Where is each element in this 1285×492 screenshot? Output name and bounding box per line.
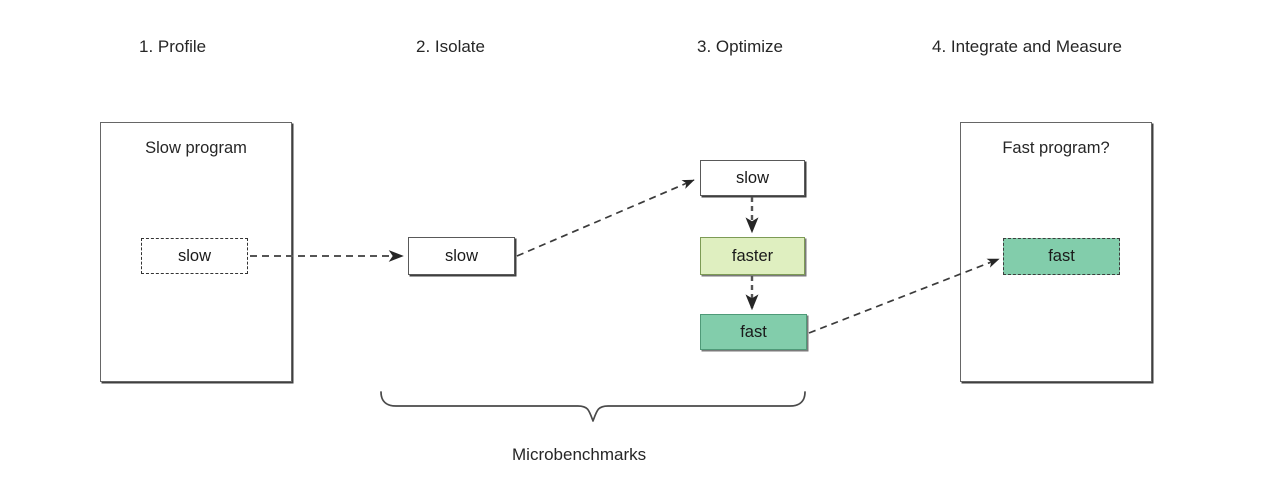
node-faster-benchmark: faster bbox=[700, 237, 805, 275]
step-heading-isolate: 2. Isolate bbox=[416, 38, 485, 55]
node-fast-integrated: fast bbox=[1003, 238, 1120, 275]
step-heading-optimize: 3. Optimize bbox=[697, 38, 783, 55]
node-faster-benchmark-label: faster bbox=[732, 248, 773, 265]
node-fast-benchmark: fast bbox=[700, 314, 807, 350]
node-fast-benchmark-label: fast bbox=[740, 324, 767, 341]
microbenchmarks-label: Microbenchmarks bbox=[512, 445, 646, 464]
diagram-canvas: 1. Profile 2. Isolate 3. Optimize 4. Int… bbox=[0, 0, 1285, 492]
step-heading-profile: 1. Profile bbox=[139, 38, 206, 55]
slow-program-title: Slow program bbox=[101, 140, 291, 157]
node-slow-benchmark-label: slow bbox=[736, 170, 769, 187]
node-slow-isolated-label: slow bbox=[445, 248, 478, 265]
node-slow-hotspot-label: slow bbox=[178, 248, 211, 265]
microbenchmarks-label-wrap: Microbenchmarks bbox=[0, 446, 1285, 463]
step-heading-integrate-and-measure: 4. Integrate and Measure bbox=[932, 38, 1122, 55]
node-slow-benchmark: slow bbox=[700, 160, 805, 196]
node-fast-integrated-label: fast bbox=[1048, 248, 1075, 265]
node-slow-hotspot: slow bbox=[141, 238, 248, 274]
fast-program-title: Fast program? bbox=[961, 140, 1151, 157]
microbenchmarks-brace bbox=[381, 392, 805, 421]
arrow-isolate-to-optimize bbox=[517, 180, 694, 256]
node-slow-isolated: slow bbox=[408, 237, 515, 275]
